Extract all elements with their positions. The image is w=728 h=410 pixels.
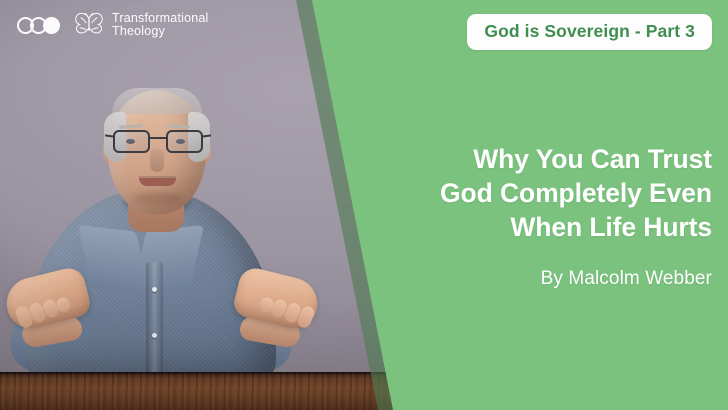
- series-badge-label: God is Sovereign - Part 3: [484, 21, 695, 42]
- title-line-1: Why You Can Trust: [292, 142, 712, 176]
- author-byline: By Malcolm Webber: [541, 268, 712, 290]
- brand-name: Transformational Theology: [112, 12, 209, 39]
- brand-logo[interactable]: Transformational Theology: [17, 11, 209, 39]
- series-badge[interactable]: God is Sovereign - Part 3: [467, 14, 712, 50]
- page-title: Why You Can Trust God Completely Even Wh…: [292, 142, 712, 244]
- title-line-2: God Completely Even: [292, 176, 712, 210]
- title-line-3: When Life Hurts: [292, 210, 712, 244]
- video-thumbnail-slide: Transformational Theology God is Soverei…: [0, 0, 728, 410]
- brand-mark: Transformational Theology: [74, 11, 209, 39]
- butterfly-icon: [74, 11, 104, 39]
- three-circles-logo-icon: [17, 17, 60, 34]
